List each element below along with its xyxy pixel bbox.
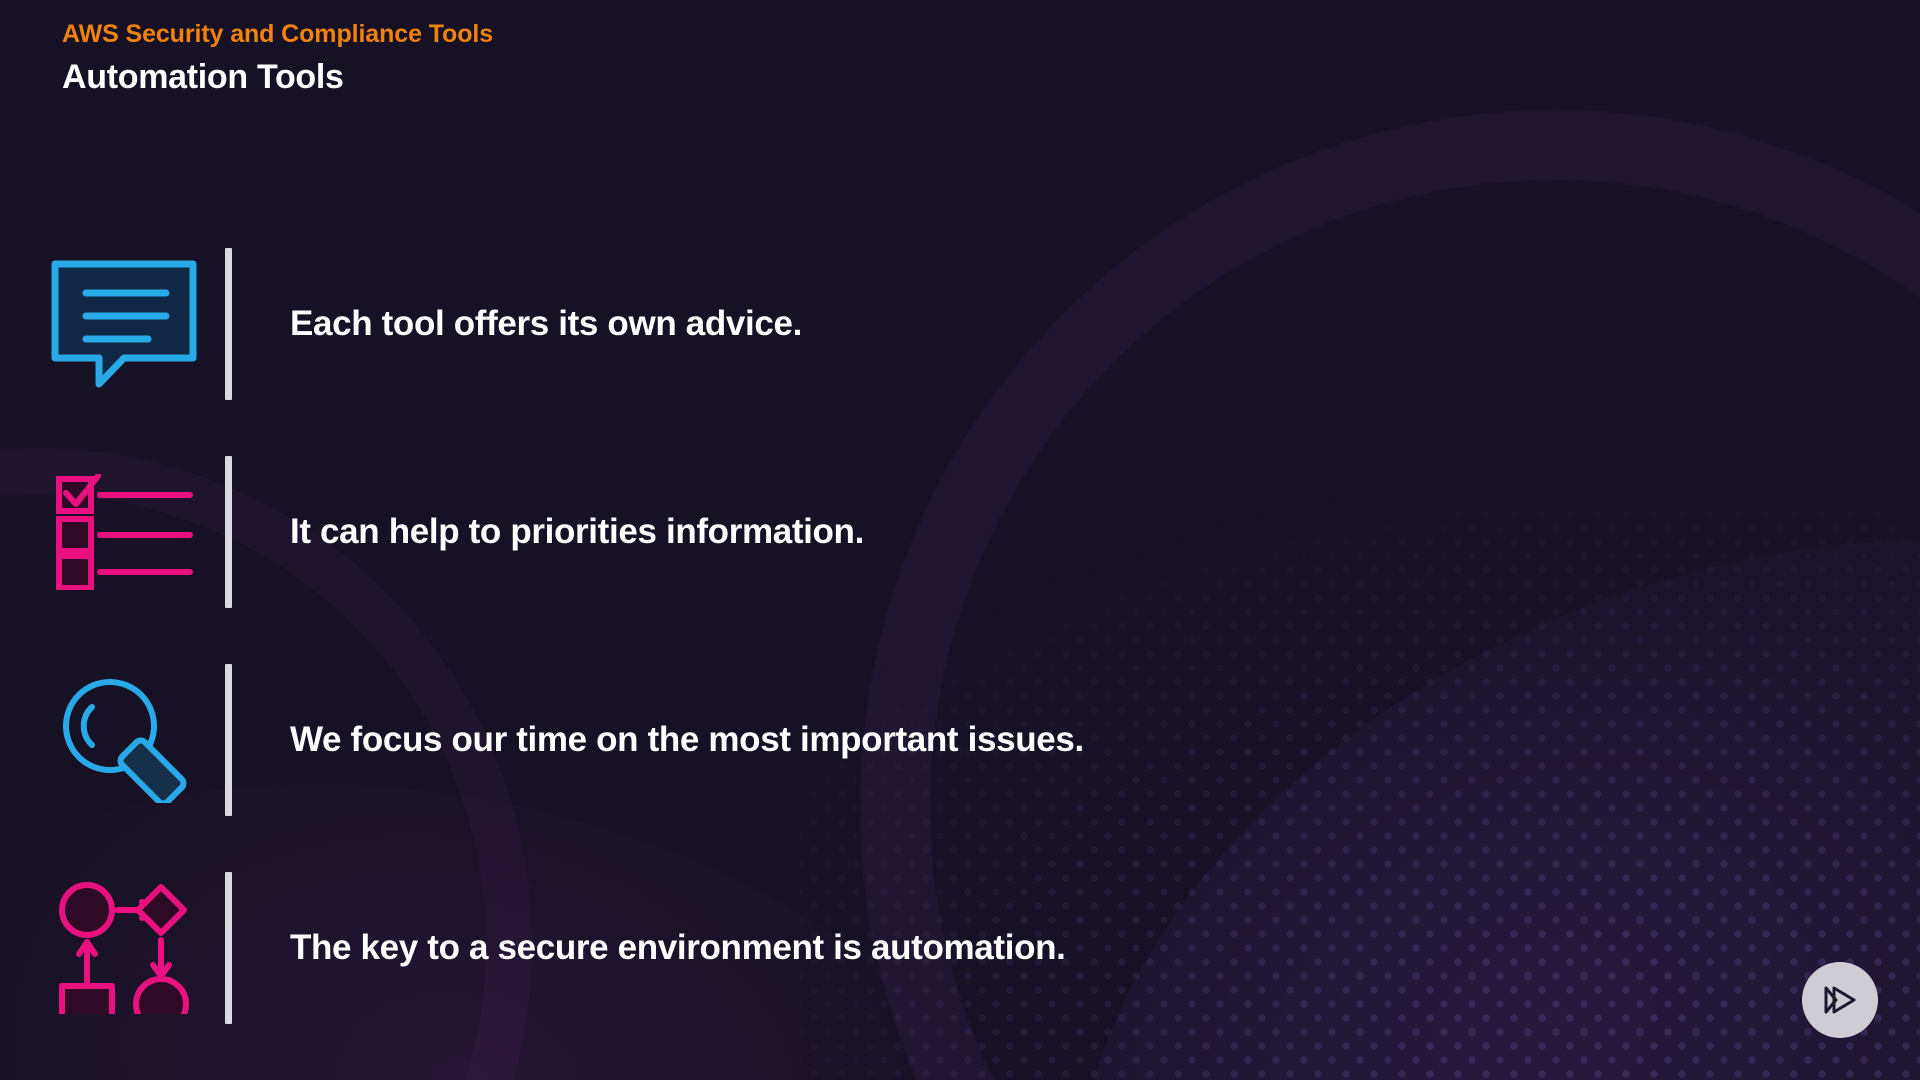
checklist-icon [54,474,194,590]
bullet-row: It can help to priorities information. [0,428,1920,636]
slide-header: AWS Security and Compliance Tools Automa… [62,20,493,97]
flowchart-icon [57,882,191,1014]
bullet-row: The key to a secure environment is autom… [0,844,1920,1052]
icon-cell [0,258,225,390]
bullet-list: Each tool offers its own advice. It can … [0,220,1920,1052]
bullet-text: The key to a secure environment is autom… [232,928,1066,968]
slide-title: Automation Tools [62,58,493,97]
presentation-slide: AWS Security and Compliance Tools Automa… [0,0,1920,1080]
icon-cell [0,474,225,590]
row-divider [225,248,232,400]
row-divider [225,664,232,816]
bullet-row: We focus our time on the most important … [0,636,1920,844]
magnifying-glass-icon [58,677,190,803]
bullet-row: Each tool offers its own advice. [0,220,1920,428]
icon-cell [0,677,225,803]
bullet-text: We focus our time on the most important … [232,720,1084,760]
speech-bubble-icon [49,258,199,390]
course-title: AWS Security and Compliance Tools [62,20,493,49]
bullet-text: Each tool offers its own advice. [232,304,802,344]
row-divider [225,456,232,608]
row-divider [225,872,232,1024]
play-logo-icon [1820,980,1860,1020]
icon-cell [0,882,225,1014]
bullet-text: It can help to priorities information. [232,512,864,552]
pluralsight-logo-button[interactable] [1802,962,1878,1038]
